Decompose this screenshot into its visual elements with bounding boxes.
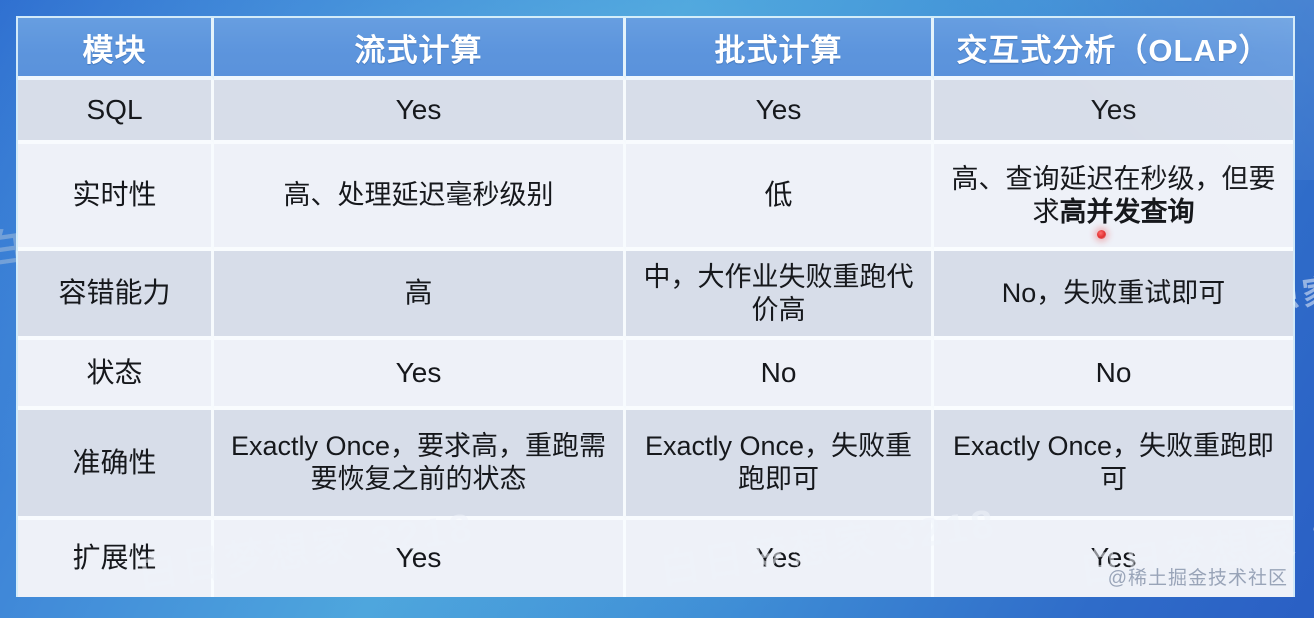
row-label-sql: SQL bbox=[18, 80, 214, 144]
cell-fault-tolerance-olap: No，失败重试即可 bbox=[934, 251, 1293, 340]
cell-scalability-batch: Yes bbox=[626, 520, 934, 597]
row-label-scalability: 扩展性 bbox=[18, 520, 214, 597]
table-row: 准确性 Exactly Once，要求高，重跑需要恢复之前的状态 Exactly… bbox=[18, 410, 1293, 520]
cell-fault-tolerance-batch: 中，大作业失败重跑代价高 bbox=[626, 251, 934, 340]
cell-scalability-olap: Yes bbox=[934, 520, 1293, 597]
table-row: 状态 Yes No No bbox=[18, 340, 1293, 410]
comparison-table: 模块 流式计算 批式计算 交互式分析（OLAP） SQL Yes Yes Yes… bbox=[18, 18, 1293, 597]
row-label-realtime: 实时性 bbox=[18, 144, 214, 251]
comparison-table-container: 模块 流式计算 批式计算 交互式分析（OLAP） SQL Yes Yes Yes… bbox=[16, 16, 1295, 597]
slide-canvas: 白日梦想家 3218 白日梦想家 3218 白日梦想家 3218 白日梦想家 3… bbox=[0, 0, 1314, 618]
table-row: SQL Yes Yes Yes bbox=[18, 80, 1293, 144]
table-row: 容错能力 高 中，大作业失败重跑代价高 No，失败重试即可 bbox=[18, 251, 1293, 340]
cell-realtime-olap-emphasis: 高并发查询 bbox=[1060, 197, 1195, 227]
column-header-batch: 批式计算 bbox=[626, 18, 934, 80]
cell-realtime-streaming: 高、处理延迟毫秒级别 bbox=[214, 144, 626, 251]
cell-state-batch: No bbox=[626, 340, 934, 410]
cell-realtime-olap: 高、查询延迟在秒级，但要求高并发查询 bbox=[934, 144, 1293, 251]
cell-state-streaming: Yes bbox=[214, 340, 626, 410]
column-header-olap: 交互式分析（OLAP） bbox=[934, 18, 1293, 80]
cell-realtime-batch: 低 bbox=[626, 144, 934, 251]
column-header-streaming: 流式计算 bbox=[214, 18, 626, 80]
cell-accuracy-batch: Exactly Once，失败重跑即可 bbox=[626, 410, 934, 520]
cell-accuracy-streaming: Exactly Once，要求高，重跑需要恢复之前的状态 bbox=[214, 410, 626, 520]
cell-sql-batch: Yes bbox=[626, 80, 934, 144]
cell-state-olap: No bbox=[934, 340, 1293, 410]
cell-sql-olap: Yes bbox=[934, 80, 1293, 144]
column-header-module: 模块 bbox=[18, 18, 214, 80]
header-row: 模块 流式计算 批式计算 交互式分析（OLAP） bbox=[18, 18, 1293, 80]
row-label-accuracy: 准确性 bbox=[18, 410, 214, 520]
cell-accuracy-olap: Exactly Once，失败重跑即可 bbox=[934, 410, 1293, 520]
cell-sql-streaming: Yes bbox=[214, 80, 626, 144]
cell-fault-tolerance-streaming: 高 bbox=[214, 251, 626, 340]
row-label-state: 状态 bbox=[18, 340, 214, 410]
cell-scalability-streaming: Yes bbox=[214, 520, 626, 597]
table-header: 模块 流式计算 批式计算 交互式分析（OLAP） bbox=[18, 18, 1293, 80]
row-label-fault-tolerance: 容错能力 bbox=[18, 251, 214, 340]
table-body: SQL Yes Yes Yes 实时性 高、处理延迟毫秒级别 低 高、查询延迟在… bbox=[18, 80, 1293, 597]
table-row: 扩展性 Yes Yes Yes bbox=[18, 520, 1293, 597]
pointer-dot bbox=[1097, 230, 1106, 239]
